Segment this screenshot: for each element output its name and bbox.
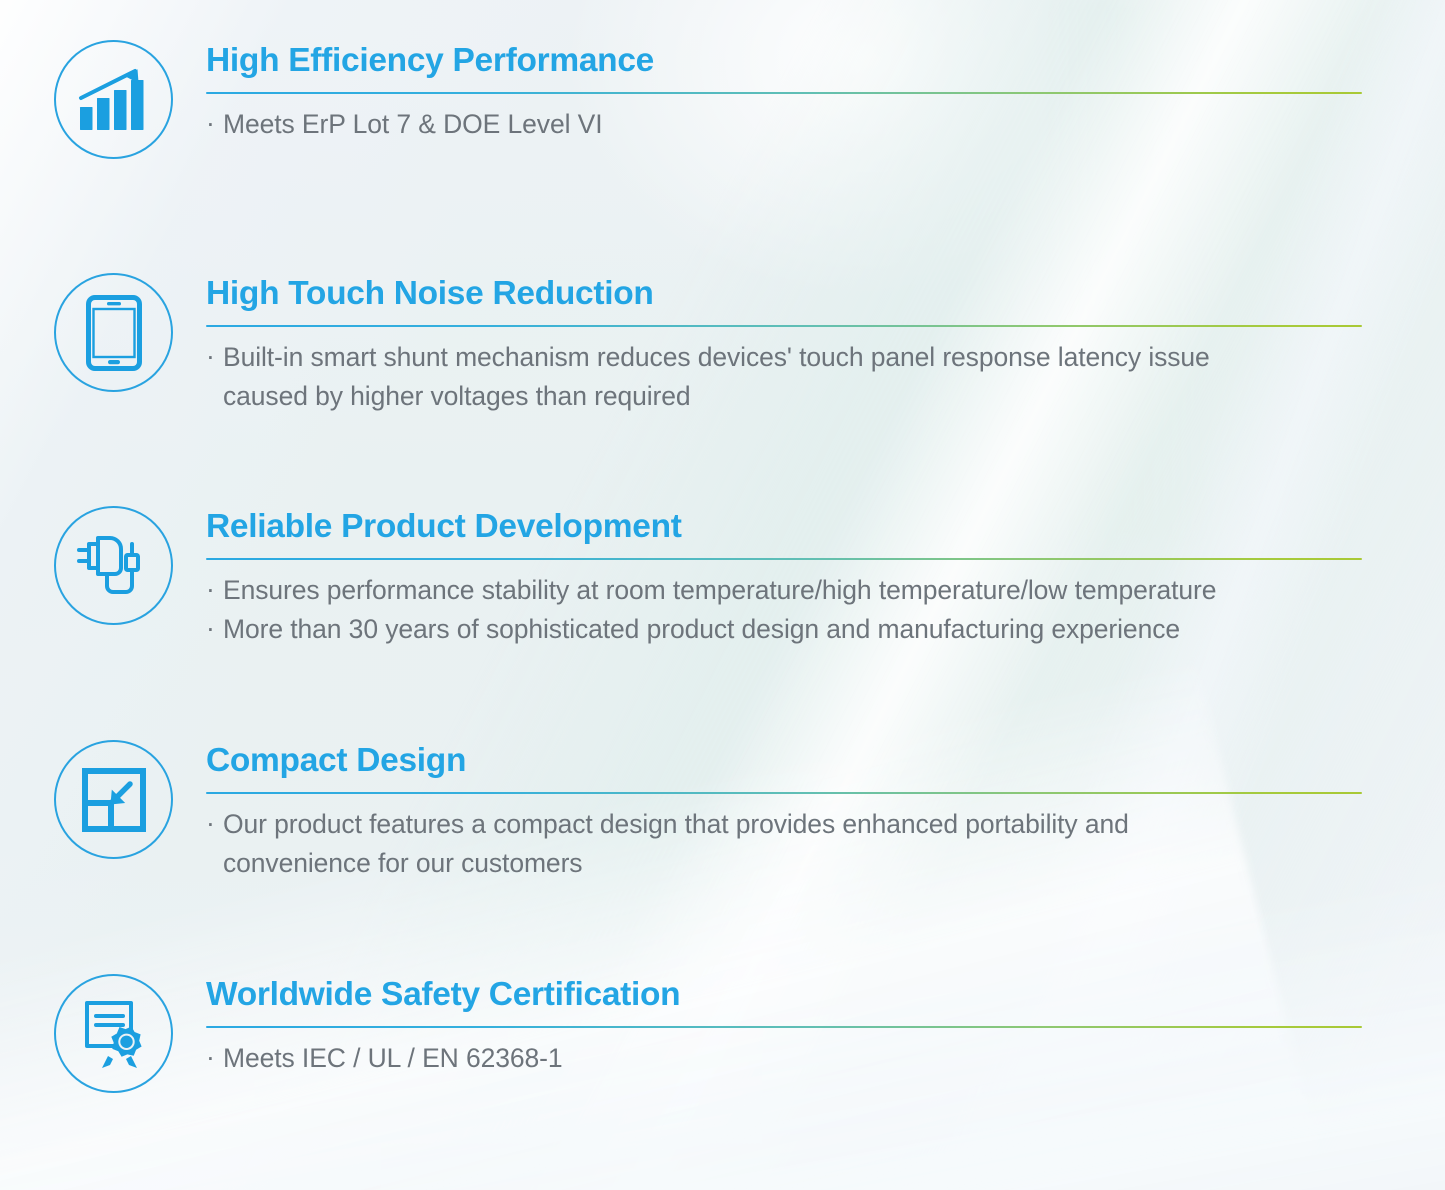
bullet-item: Our product features a compact design th… — [206, 805, 1445, 882]
compact-resize-icon — [54, 740, 173, 859]
bullet-item: Ensures performance stability at room te… — [206, 571, 1445, 609]
feature-bullets: Meets ErP Lot 7 & DOE Level VI — [206, 105, 1445, 143]
feature-bullets: Our product features a compact design th… — [206, 805, 1445, 882]
feature-item-worldwide-safety-certification: Worldwide Safety Certification Meets IEC… — [0, 972, 1445, 1172]
smartphone-icon — [54, 273, 173, 392]
feature-bullets: Ensures performance stability at room te… — [206, 571, 1445, 648]
feature-bullets: Meets IEC / UL / EN 62368-1 — [206, 1039, 1445, 1077]
certificate-award-icon — [54, 974, 173, 1093]
bar-chart-growth-icon — [54, 40, 173, 159]
feature-title: Reliable Product Development — [206, 508, 1445, 546]
feature-content: Reliable Product Development Ensures per… — [173, 504, 1445, 648]
bullet-item: More than 30 years of sophisticated prod… — [206, 610, 1445, 648]
feature-title: High Touch Noise Reduction — [206, 275, 1445, 313]
feature-divider — [206, 558, 1362, 561]
feature-item-reliable-product-development: Reliable Product Development Ensures per… — [0, 504, 1445, 738]
feature-highlights-page: High Efficiency Performance Meets ErP Lo… — [0, 0, 1445, 1190]
feature-bullets: Built-in smart shunt mechanism reduces d… — [206, 338, 1445, 415]
feature-divider — [206, 325, 1362, 328]
feature-item-high-efficiency-performance: High Efficiency Performance Meets ErP Lo… — [0, 38, 1445, 271]
feature-item-high-touch-noise-reduction: High Touch Noise Reduction Built-in smar… — [0, 271, 1445, 504]
feature-content: High Efficiency Performance Meets ErP Lo… — [173, 38, 1445, 144]
feature-content: Compact Design Our product features a co… — [173, 738, 1445, 882]
feature-title: Worldwide Safety Certification — [206, 976, 1445, 1014]
feature-list: High Efficiency Performance Meets ErP Lo… — [0, 0, 1445, 1172]
feature-title: High Efficiency Performance — [206, 42, 1445, 80]
feature-title: Compact Design — [206, 742, 1445, 780]
feature-divider — [206, 92, 1362, 95]
bullet-item: Built-in smart shunt mechanism reduces d… — [206, 338, 1445, 415]
feature-divider — [206, 792, 1362, 795]
bullet-item: Meets IEC / UL / EN 62368-1 — [206, 1039, 1445, 1077]
power-adapter-icon — [54, 506, 173, 625]
feature-item-compact-design: Compact Design Our product features a co… — [0, 738, 1445, 972]
bullet-item: Meets ErP Lot 7 & DOE Level VI — [206, 105, 1445, 143]
feature-divider — [206, 1026, 1362, 1029]
feature-content: High Touch Noise Reduction Built-in smar… — [173, 271, 1445, 415]
feature-content: Worldwide Safety Certification Meets IEC… — [173, 972, 1445, 1078]
